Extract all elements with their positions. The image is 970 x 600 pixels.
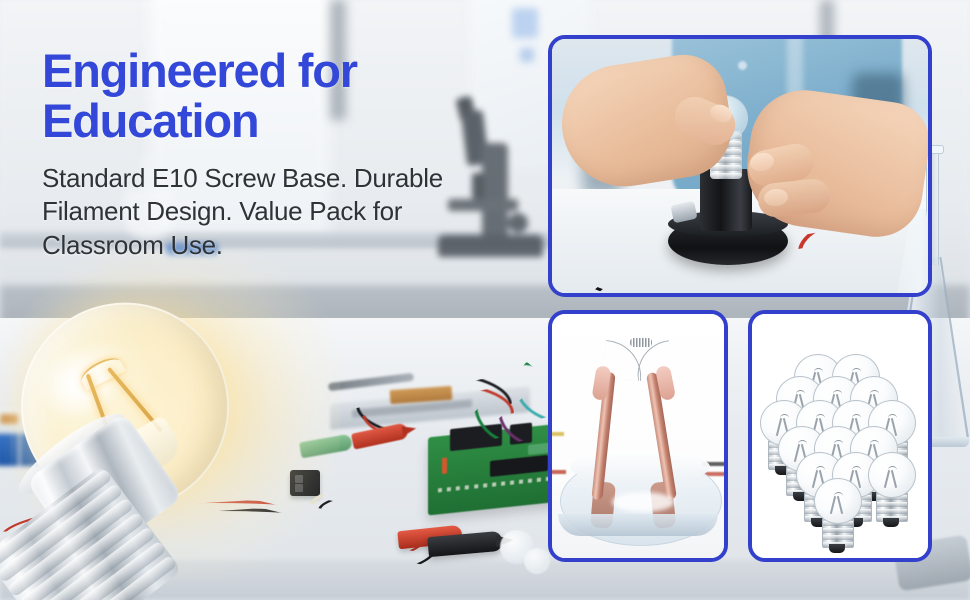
bulb-installation-photo xyxy=(548,35,932,297)
bulb-array xyxy=(764,360,924,520)
filament-coil xyxy=(630,338,652,347)
filament-closeup-photo xyxy=(548,310,728,562)
bulb-value-pack-photo xyxy=(748,310,932,562)
headline-block: Engineered for Education Standard E10 Sc… xyxy=(42,46,462,263)
product-feature-banner: Engineered for Education Standard E10 Sc… xyxy=(0,0,970,600)
background-blue-object-small xyxy=(520,48,534,62)
background-blue-object xyxy=(512,8,538,38)
subtitle-text: Standard E10 Screw Base. Durable Filamen… xyxy=(42,162,462,263)
page-title: Engineered for Education xyxy=(42,46,462,146)
spare-bulb-object-secondary xyxy=(524,548,550,574)
